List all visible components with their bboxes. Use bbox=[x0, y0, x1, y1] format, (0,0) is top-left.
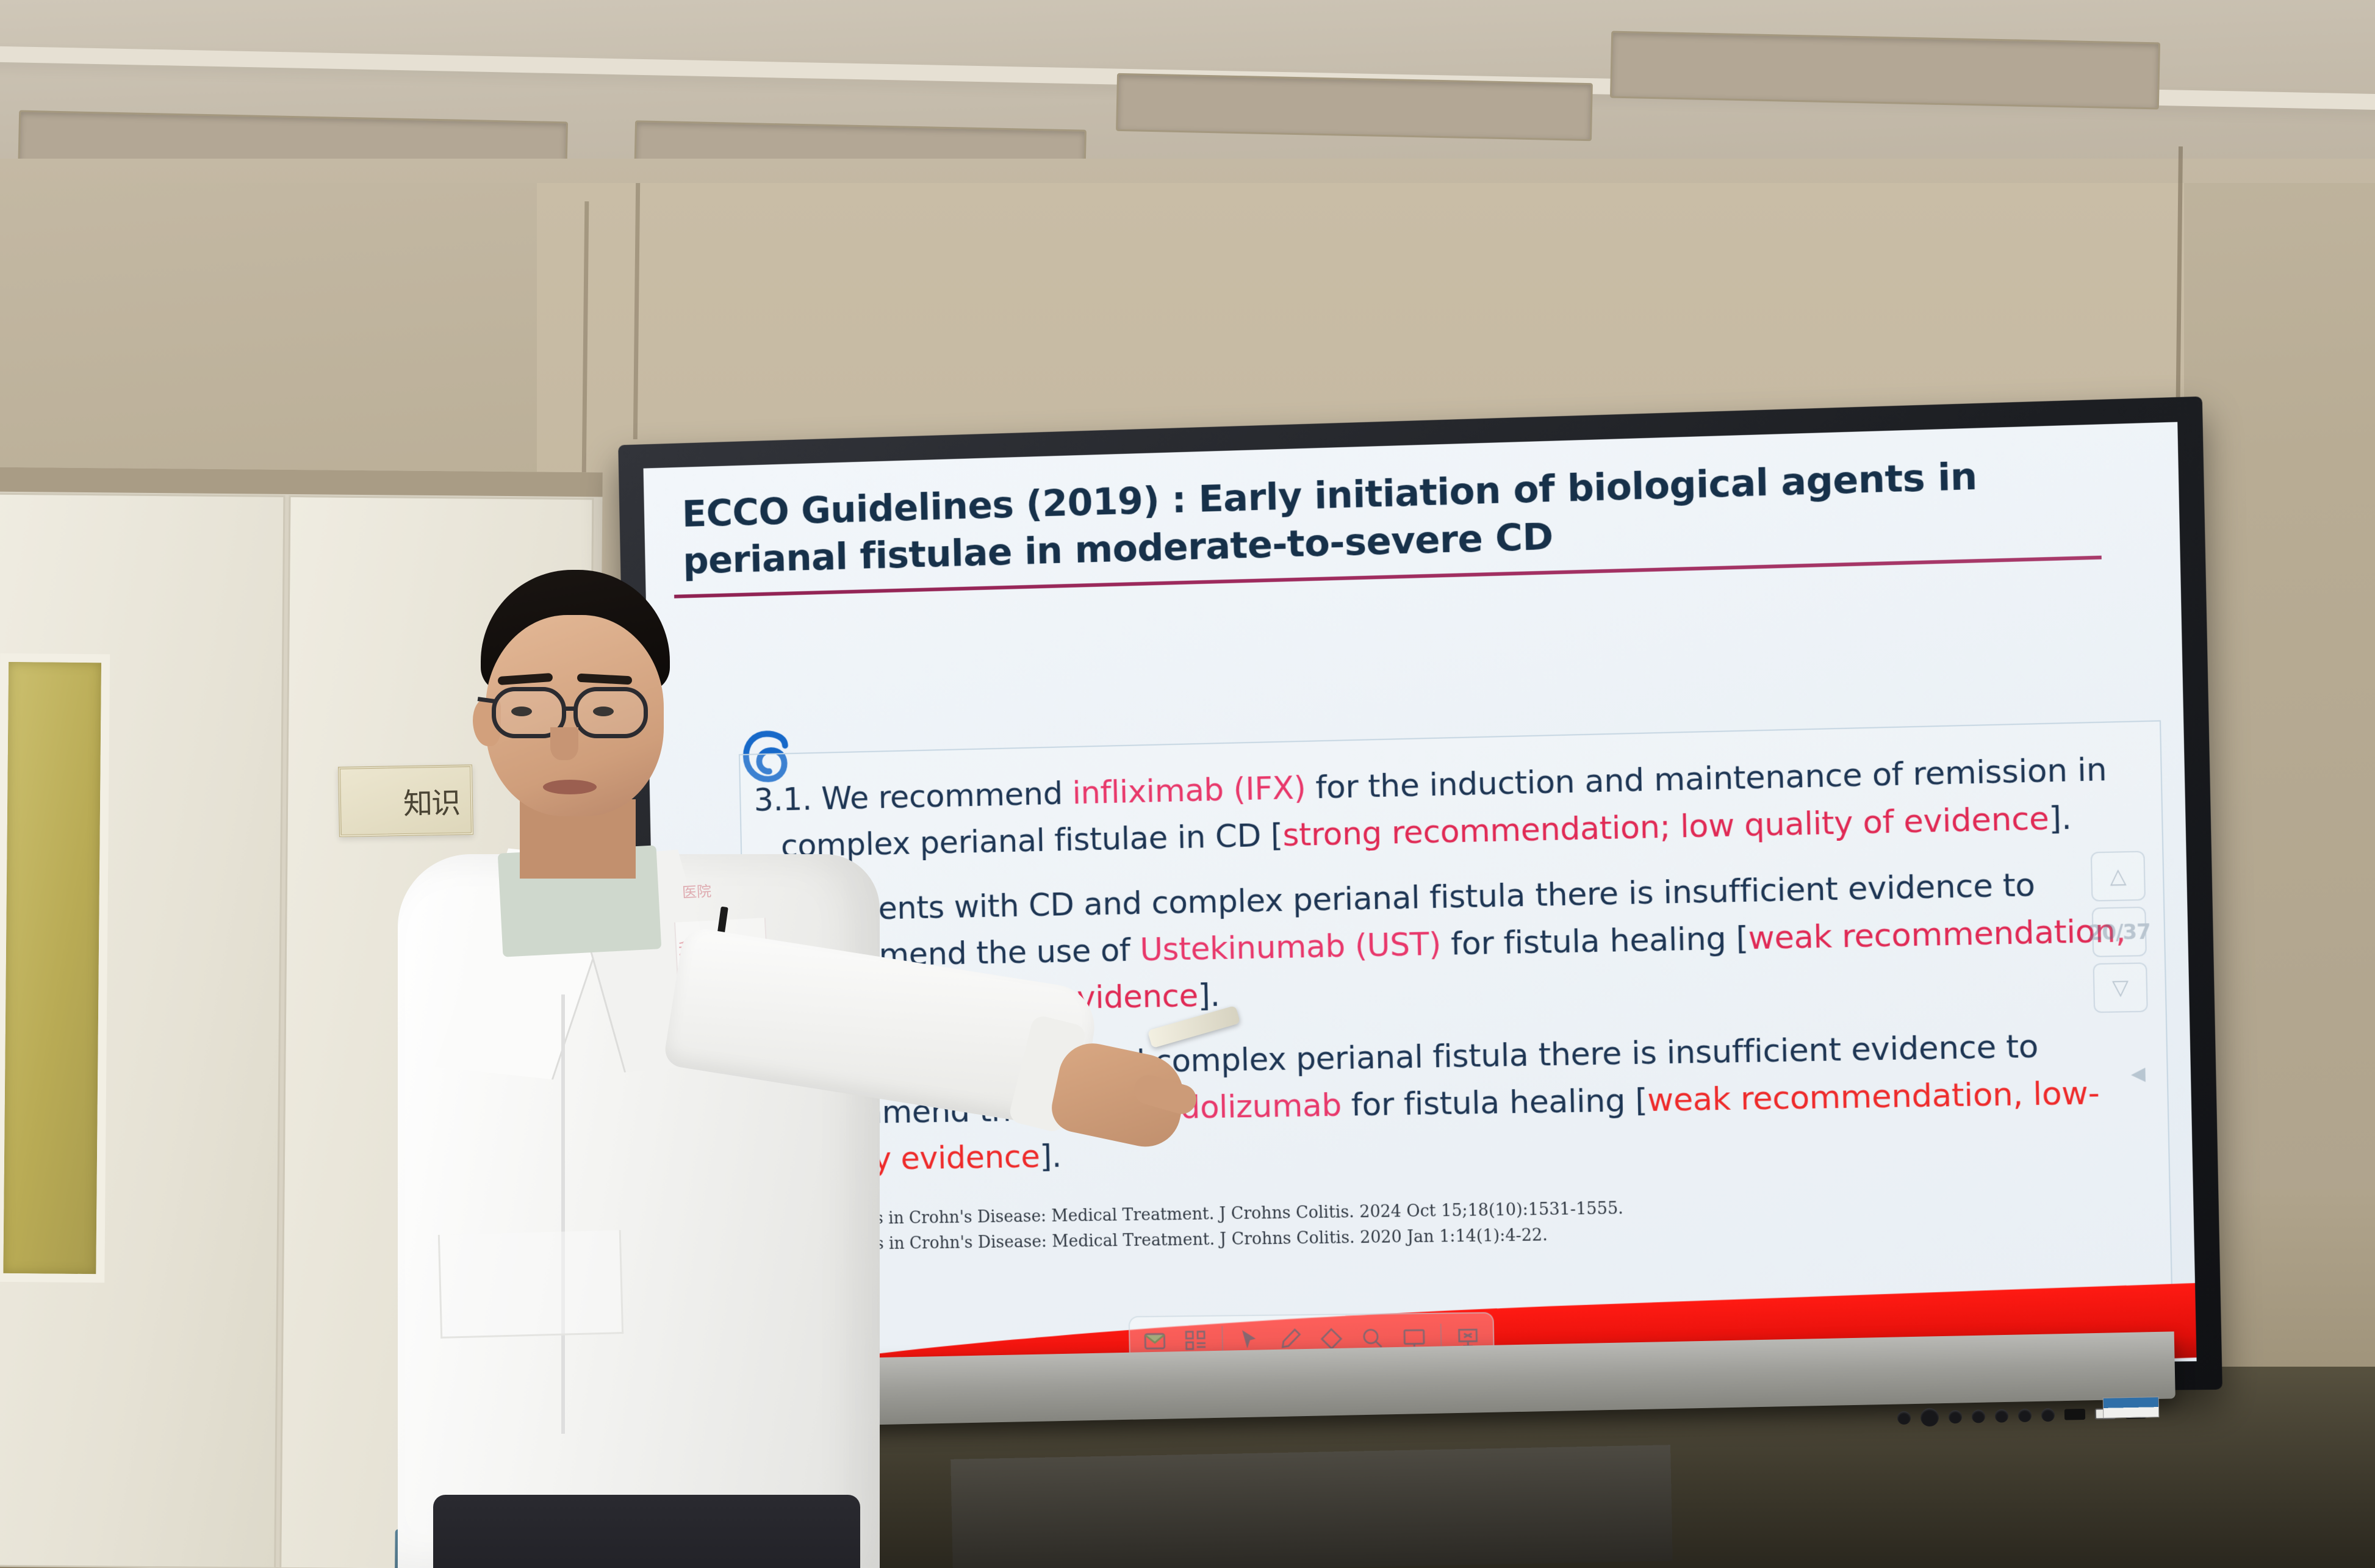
toolbar-divider bbox=[1221, 1326, 1223, 1354]
door-leaf-left[interactable] bbox=[0, 493, 285, 1568]
trousers bbox=[433, 1495, 860, 1568]
ceiling-vent bbox=[1610, 31, 2160, 110]
page-up-button[interactable]: △ bbox=[2091, 851, 2146, 902]
text-run: for fistula healing [ bbox=[1440, 920, 1748, 963]
control-button[interactable] bbox=[2018, 1409, 2032, 1422]
mouth bbox=[543, 780, 597, 794]
control-button[interactable] bbox=[1972, 1409, 1985, 1423]
evidence-grade: strong recommendation; low quality of ev… bbox=[1282, 800, 2049, 854]
ceiling-vent bbox=[1116, 73, 1593, 141]
door-header bbox=[0, 467, 603, 497]
door-glass-panel bbox=[0, 653, 110, 1283]
coat-embroidery: 医院 bbox=[681, 879, 712, 902]
room-scene: 知识 ECCO Guidelines (2019) : Early initia… bbox=[0, 0, 2375, 1568]
power-button[interactable] bbox=[1920, 1408, 1939, 1427]
control-button[interactable] bbox=[1949, 1410, 1962, 1423]
page-navigation[interactable]: △ 20/37 ▽ bbox=[2091, 851, 2148, 1013]
text-run: ]. bbox=[2049, 800, 2072, 838]
display-sticker bbox=[2103, 1397, 2160, 1419]
coat-lower-pocket bbox=[438, 1230, 623, 1339]
control-button[interactable] bbox=[1995, 1409, 2008, 1422]
control-button[interactable] bbox=[1897, 1411, 1911, 1425]
presenter: 医院 科室 bbox=[378, 567, 1220, 1568]
nose bbox=[550, 727, 578, 760]
page-down-button[interactable]: ▽ bbox=[2093, 962, 2148, 1013]
text-run: for fistula healing [ bbox=[1341, 1082, 1648, 1123]
eyeglasses-lens-right bbox=[573, 687, 648, 738]
coat-placket bbox=[561, 994, 565, 1434]
page-counter: 20/37 bbox=[2092, 907, 2147, 957]
side-collapse-arrow-icon[interactable]: ◀ bbox=[2130, 1063, 2146, 1085]
eyeglasses-bridge bbox=[565, 707, 577, 711]
control-button[interactable] bbox=[2041, 1408, 2055, 1422]
hdmi-port bbox=[2064, 1409, 2085, 1420]
